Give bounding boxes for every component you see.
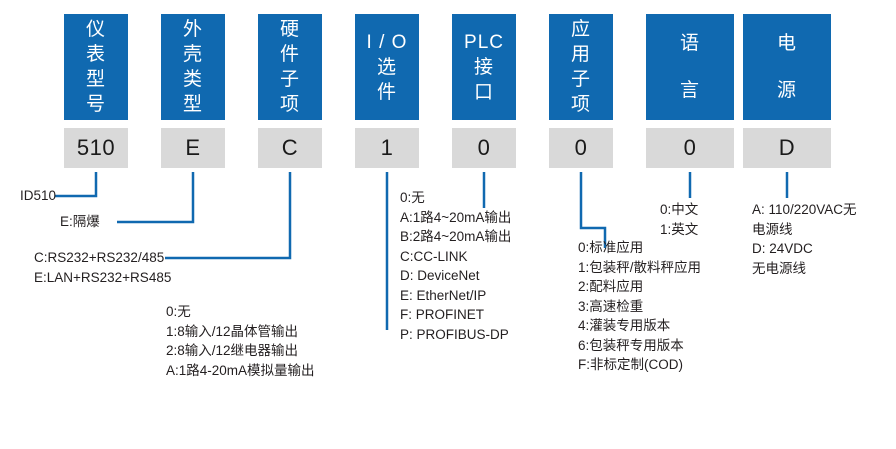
header-line: 应 <box>571 17 591 42</box>
header-line: 语 <box>680 31 700 56</box>
note-io-option-hardware: 0:无 1:8输入/12晶体管输出 2:8输入/12继电器输出 A:1路4-20… <box>166 302 315 380</box>
header-line: 硬 <box>280 17 300 42</box>
column-header-power-supply: 电 源 <box>743 14 831 120</box>
note-plc-interface: 0:无 A:1路4~20mA输出 B:2路4~20mA输出 C:CC-LINK … <box>400 188 511 344</box>
column-application-subitem: 应 用 子 项 0 <box>549 14 613 168</box>
header-line: 壳 <box>183 42 203 67</box>
column-header-language: 语 言 <box>646 14 734 120</box>
note-enclosure-type: E:隔爆 <box>60 212 100 232</box>
header-line: 接 <box>474 55 494 80</box>
column-value-plc-interface: 0 <box>452 128 516 168</box>
column-header-io-option: I / O 选 件 <box>355 14 419 120</box>
note-language: 0:中文 1:英文 <box>660 200 698 239</box>
header-line: 仪 <box>86 17 106 42</box>
column-value-enclosure-type: E <box>161 128 225 168</box>
header-line: 言 <box>680 78 700 103</box>
header-line: 子 <box>280 67 300 92</box>
column-value-io-option: 1 <box>355 128 419 168</box>
note-application-subitem: 0:标准应用 1:包装秤/散料秤应用 2:配料应用 3:高速检重 4:灌装专用版… <box>578 238 701 375</box>
column-meter-model: 仪 表 型 号 510 <box>64 14 128 168</box>
column-header-meter-model: 仪 表 型 号 <box>64 14 128 120</box>
model-number-configuration-diagram: 仪 表 型 号 510 外 壳 类 型 E 硬 件 子 项 C I / O 选 … <box>0 0 896 449</box>
header-line: 号 <box>86 92 106 117</box>
note-power-supply: A: 110/220VAC无 电源线 D: 24VDC 无电源线 <box>752 200 857 278</box>
leader-line-enclosure-type <box>117 172 193 222</box>
column-value-hardware-subitem: C <box>258 128 322 168</box>
column-io-option: I / O 选 件 1 <box>355 14 419 168</box>
header-line: 类 <box>183 67 203 92</box>
header-line: 选 <box>377 55 397 80</box>
column-value-meter-model: 510 <box>64 128 128 168</box>
column-hardware-subitem: 硬 件 子 项 C <box>258 14 322 168</box>
header-line: I / O <box>367 30 408 55</box>
header-line: 型 <box>86 67 106 92</box>
header-line: 件 <box>377 80 397 105</box>
header-line: 源 <box>777 78 797 103</box>
note-meter-model: ID510 <box>20 186 56 206</box>
header-line: 外 <box>183 17 203 42</box>
column-value-language: 0 <box>646 128 734 168</box>
header-line: 项 <box>280 92 300 117</box>
header-line: 用 <box>571 42 591 67</box>
header-line: PLC <box>464 30 504 55</box>
column-header-application-subitem: 应 用 子 项 <box>549 14 613 120</box>
column-header-enclosure-type: 外 壳 类 型 <box>161 14 225 120</box>
column-header-plc-interface: PLC 接 口 <box>452 14 516 120</box>
header-line: 表 <box>86 42 106 67</box>
header-line: 子 <box>571 67 591 92</box>
column-plc-interface: PLC 接 口 0 <box>452 14 516 168</box>
column-enclosure-type: 外 壳 类 型 E <box>161 14 225 168</box>
header-line: 项 <box>571 92 591 117</box>
column-power-supply: 电 源 D <box>743 14 831 168</box>
leader-line-application-subitem <box>581 172 605 248</box>
leader-line-meter-model <box>55 172 96 196</box>
column-header-hardware-subitem: 硬 件 子 项 <box>258 14 322 120</box>
header-line: 件 <box>280 42 300 67</box>
header-line: 口 <box>474 80 494 105</box>
note-hardware-subitem: C:RS232+RS232/485 E:LAN+RS232+RS485 <box>34 248 171 287</box>
leader-line-hardware-subitem <box>165 172 290 258</box>
column-value-power-supply: D <box>743 128 831 168</box>
column-language: 语 言 0 <box>646 14 734 168</box>
header-line: 电 <box>777 31 797 56</box>
header-line: 型 <box>183 92 203 117</box>
column-value-application-subitem: 0 <box>549 128 613 168</box>
